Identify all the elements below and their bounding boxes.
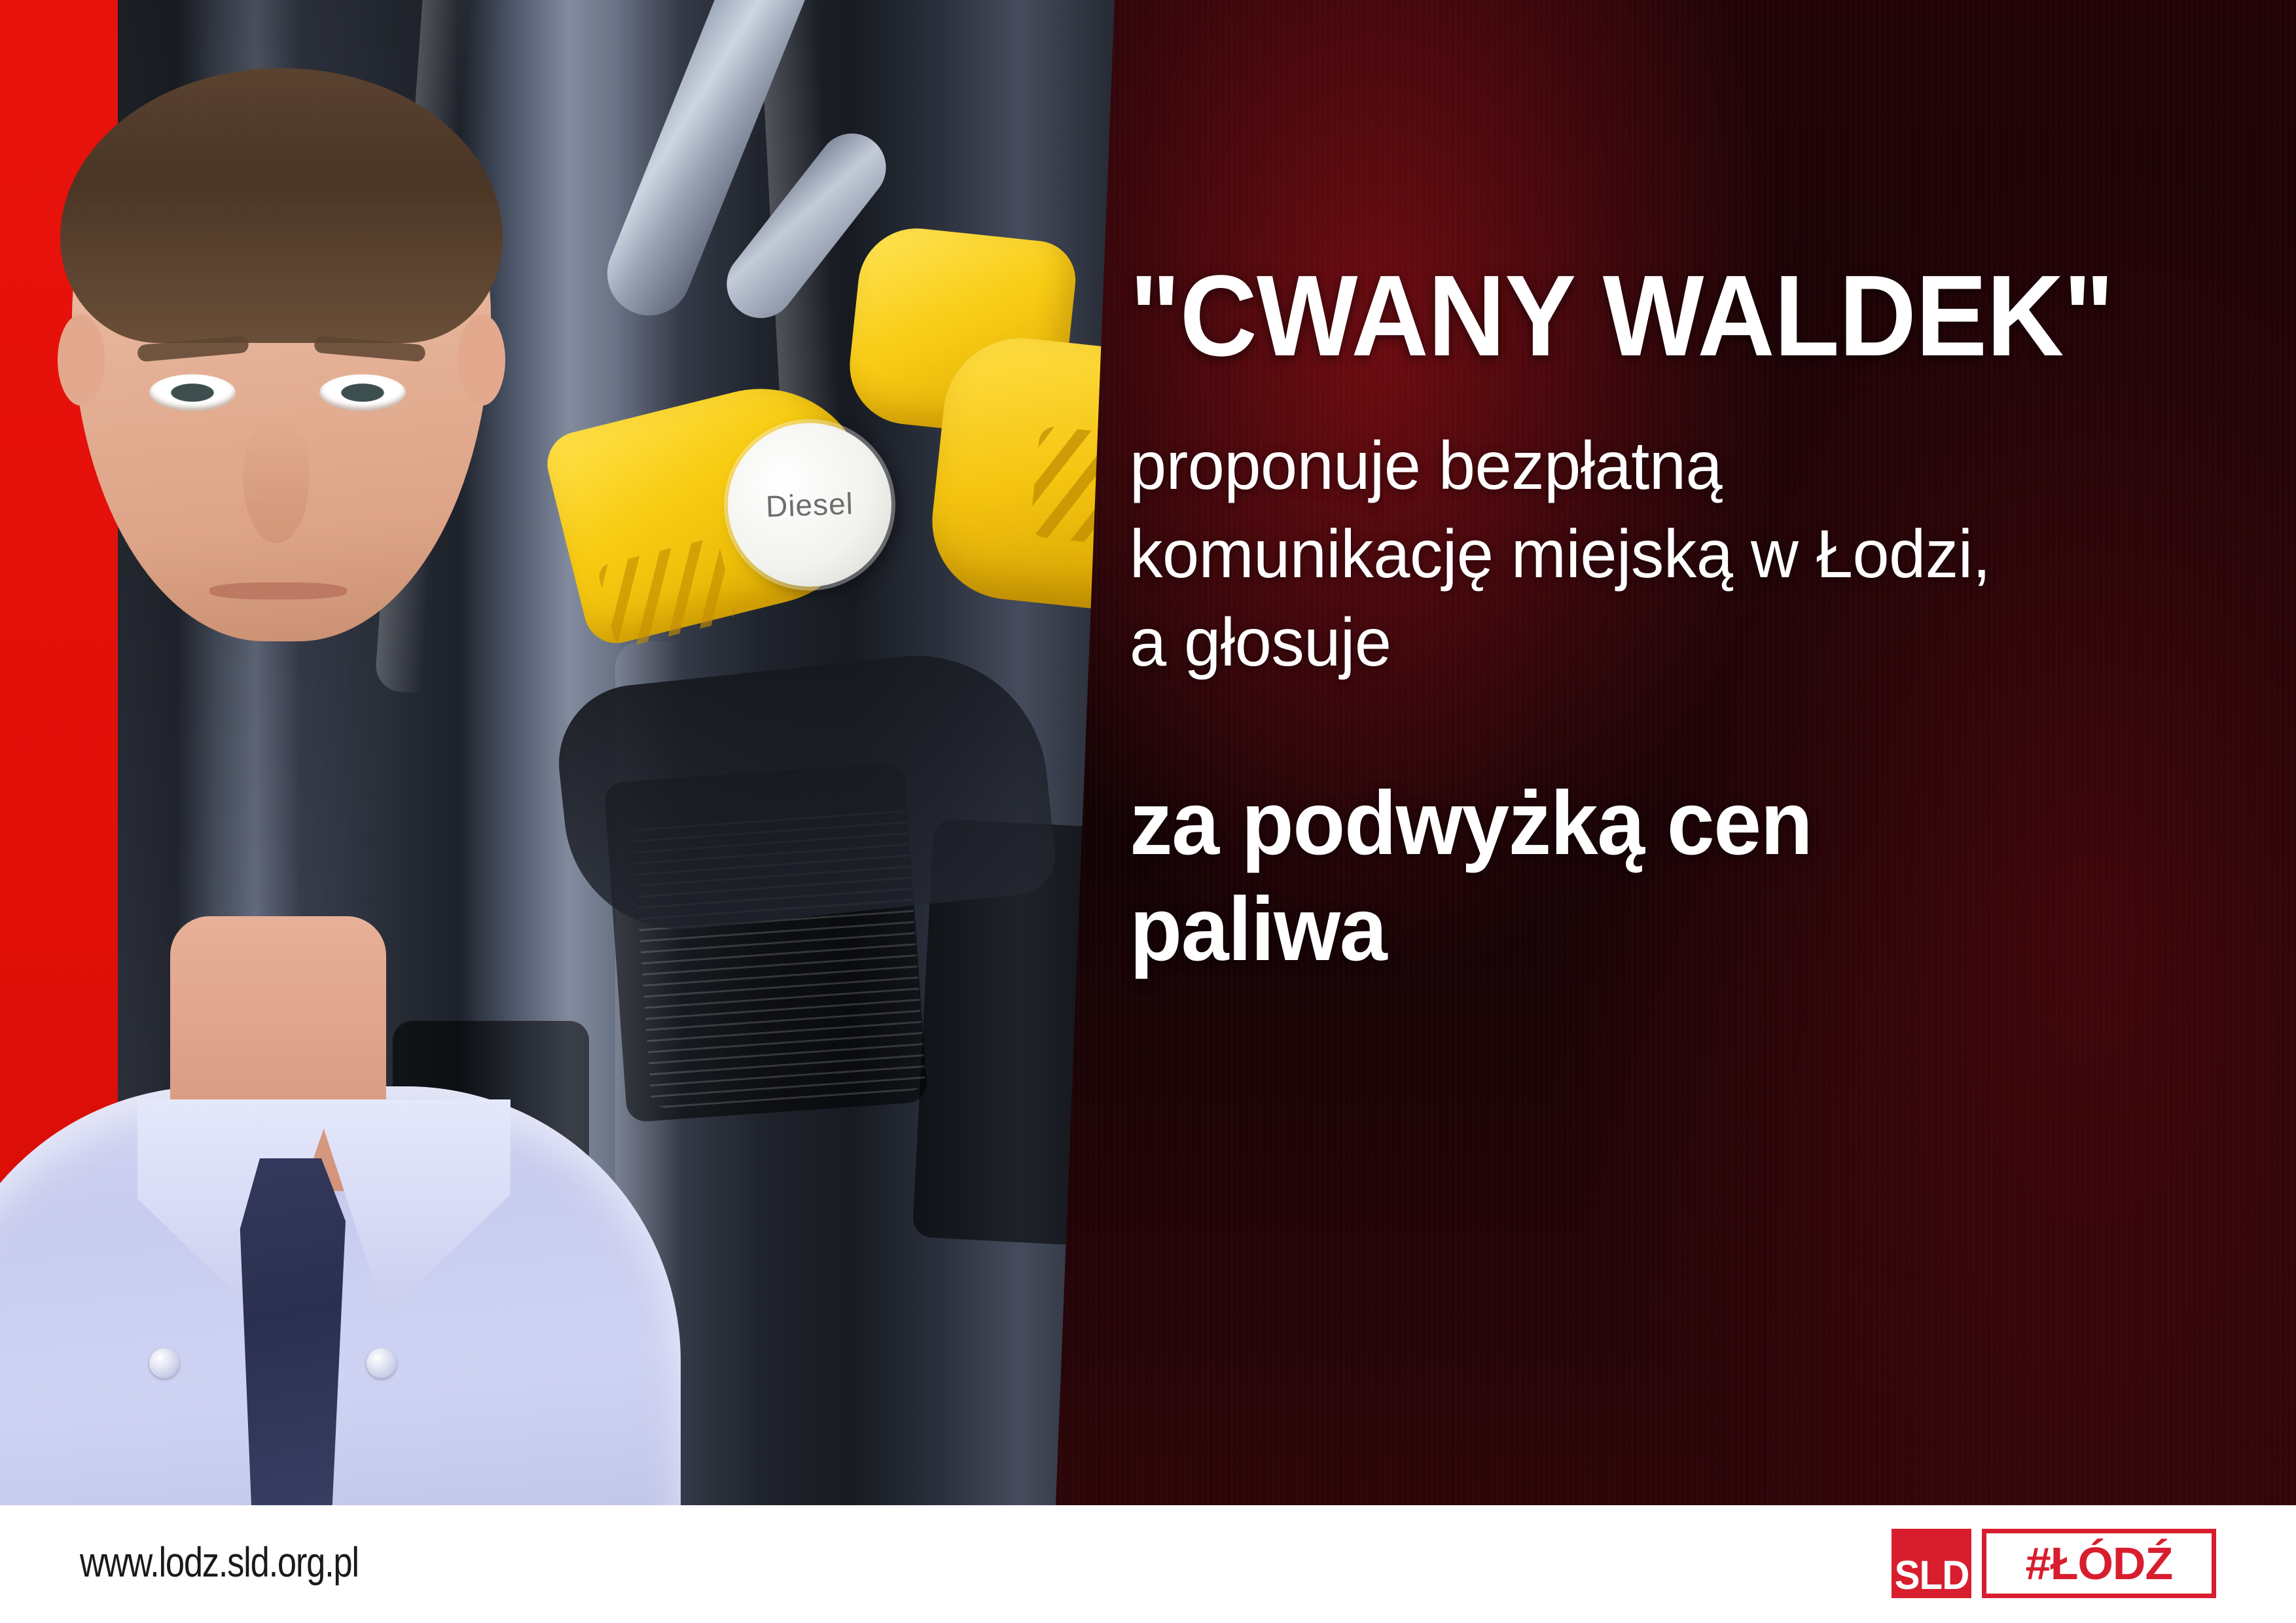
campaign-poster: Diesel (0, 0, 2296, 1623)
portrait-mouth (209, 582, 347, 599)
fuel-pump-photo-left: Diesel (0, 0, 1152, 1505)
poster-body-copy: proponuje bezpłatną komunikację miejską … (1130, 422, 2247, 688)
poster-headline: "CWANY WALDEK" (1130, 259, 2201, 374)
lodz-logo-box: #ŁÓDŹ (1982, 1529, 2216, 1598)
website-url[interactable]: www.lodz.sld.org.pl (80, 1538, 359, 1586)
sld-lodz-logo: SLD #ŁÓDŹ (1892, 1529, 2216, 1598)
body-line-2: komunikację miejską w Łodzi, (1130, 510, 2247, 599)
poster-emphasis: za podwyżką cen paliwa (1130, 770, 2224, 984)
portrait-eye-right (319, 374, 406, 411)
portrait-ear-left (58, 314, 105, 406)
portrait-nose (243, 419, 309, 543)
portrait-eye-left (149, 374, 236, 411)
necktie (236, 1158, 346, 1505)
portrait-ear-right (458, 314, 505, 406)
emphasis-line-2: paliwa (1130, 876, 2224, 983)
portrait-hair (60, 68, 503, 343)
body-line-3: a głosuje (1130, 599, 2247, 687)
sld-logo-text: SLD (1894, 1557, 1969, 1598)
lodz-logo-text: #ŁÓDŹ (2026, 1541, 2172, 1586)
shirt-button-left (149, 1348, 179, 1378)
footer-bar: www.lodz.sld.org.pl SLD #ŁÓDŹ (0, 1505, 2296, 1623)
emphasis-line-1: za podwyżką cen (1130, 770, 2224, 877)
body-line-1: proponuje bezpłatną (1130, 422, 2247, 510)
shirt-button-right (367, 1348, 397, 1378)
poster-text-block: "CWANY WALDEK" proponuje bezpłatną komun… (1130, 259, 2282, 983)
candidate-portrait (0, 79, 641, 1505)
sld-logo-mark: SLD (1892, 1529, 1971, 1598)
